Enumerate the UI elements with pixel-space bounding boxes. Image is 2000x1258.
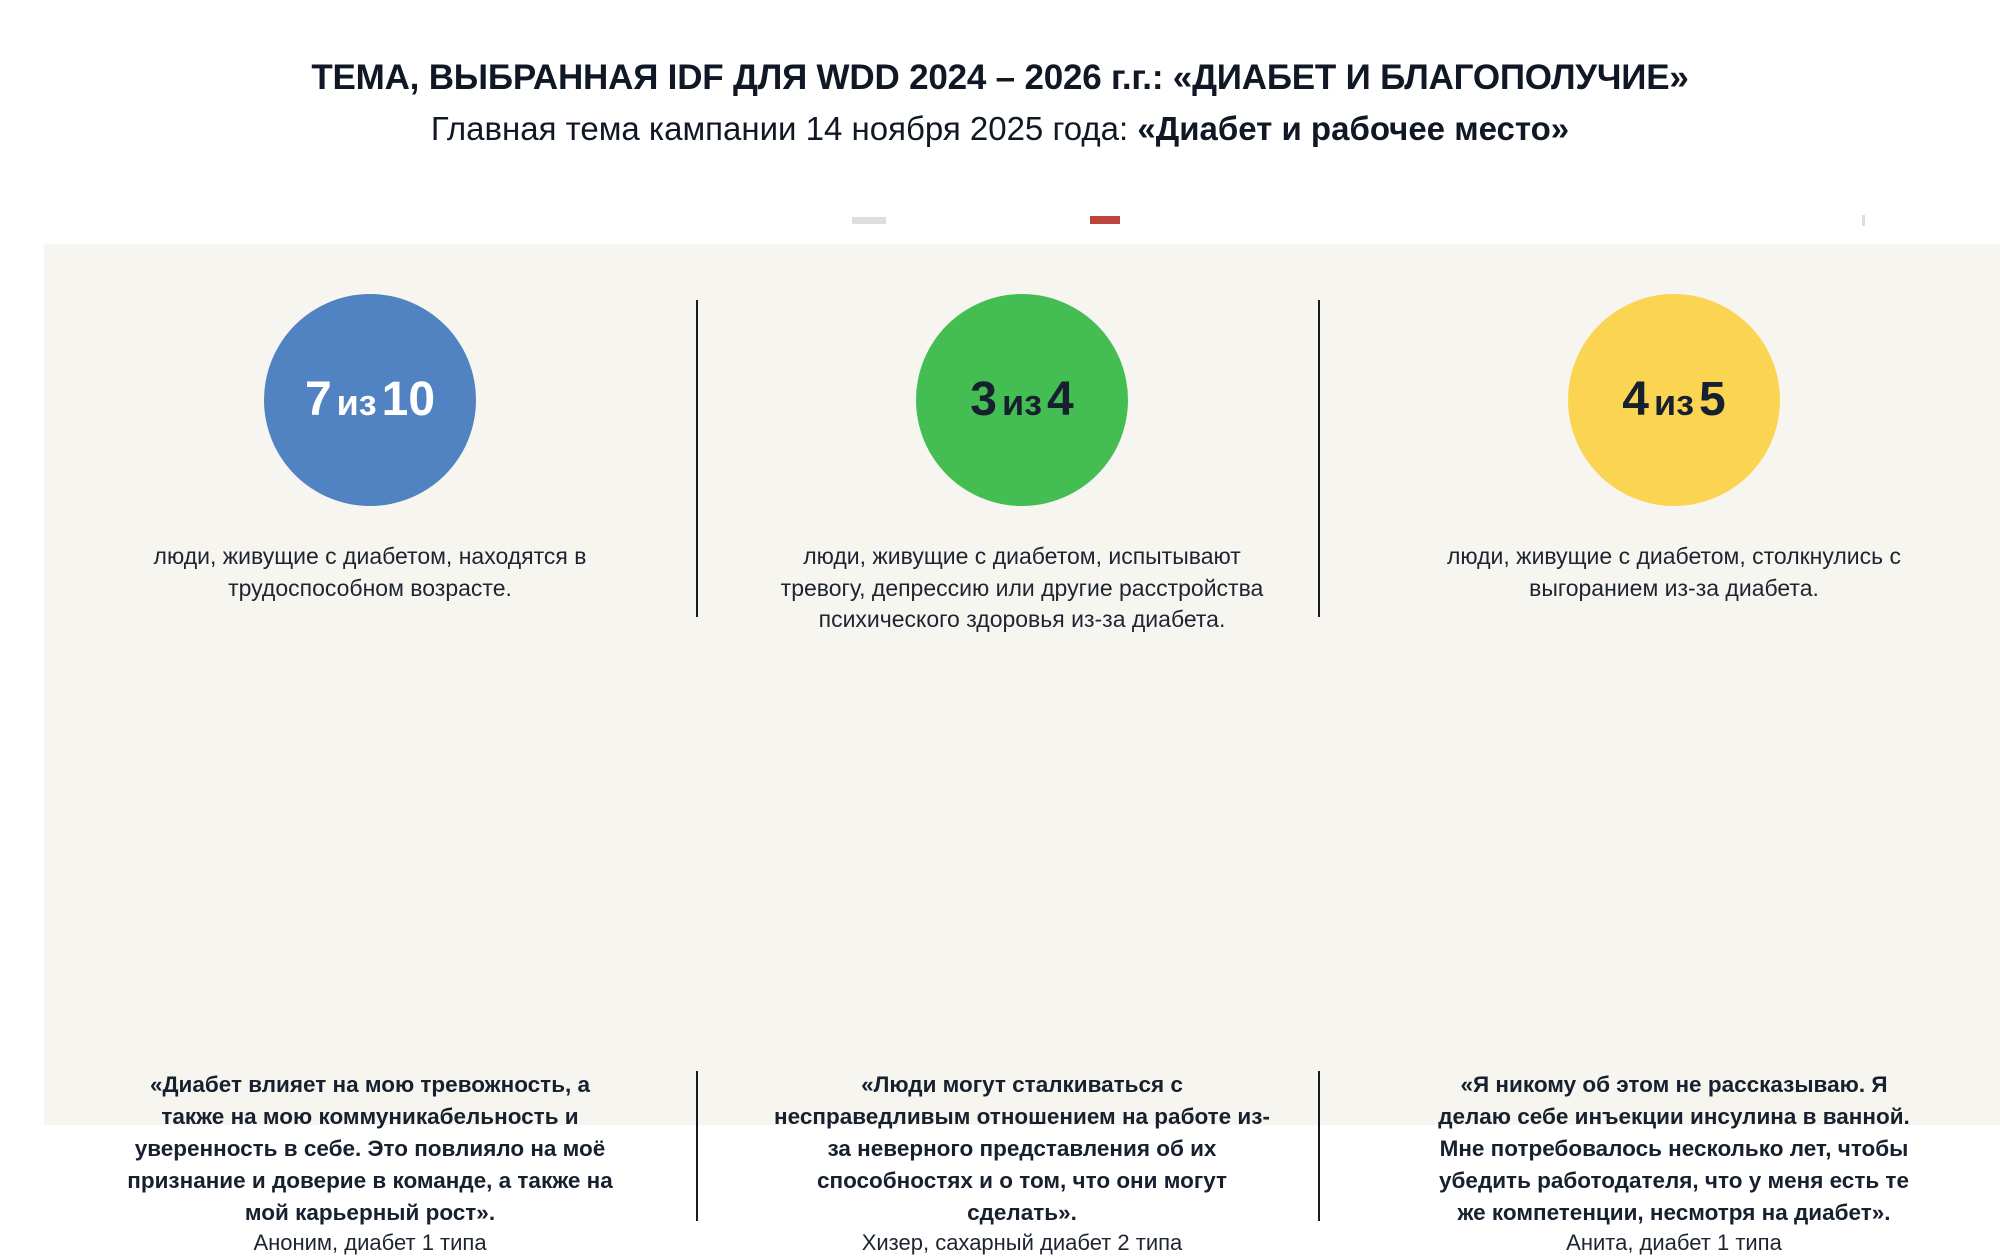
stat-connector-1: из bbox=[332, 382, 382, 423]
testimonial-attribution-3: Анита, диабет 1 типа bbox=[1348, 1229, 2000, 1258]
stat-caption-1: люди, живущие с диабетом, находятся в тр… bbox=[44, 541, 696, 604]
testimonial-quote-3: «Я никому об этом не рассказываю. Я дела… bbox=[1348, 1069, 2000, 1229]
stat-ratio-1: 7из10 bbox=[305, 376, 435, 424]
stat-circle-yellow: 4из5 bbox=[1568, 294, 1780, 506]
stat-column-2: 3из4 люди, живущие с диабетом, испытываю… bbox=[696, 244, 1348, 1125]
stat-numerator-1: 7 bbox=[305, 373, 332, 426]
statistics-columns: 7из10 люди, живущие с диабетом, находятс… bbox=[44, 244, 2000, 1125]
stat-connector-3: из bbox=[1649, 382, 1699, 423]
campaign-subtitle-prefix: Главная тема кампании 14 ноября 2025 год… bbox=[431, 110, 1137, 147]
campaign-subtitle: Главная тема кампании 14 ноября 2025 год… bbox=[0, 107, 2000, 152]
testimonial-attribution-1: Аноним, диабет 1 типа bbox=[44, 1229, 696, 1258]
clipped-fragment-7 bbox=[1862, 215, 1865, 226]
clipped-fragment-3 bbox=[372, 216, 392, 227]
stat-circle-green: 3из4 bbox=[916, 294, 1128, 506]
stat-numerator-2: 3 bbox=[970, 373, 997, 426]
stat-column-1: 7из10 люди, живущие с диабетом, находятс… bbox=[44, 244, 696, 1125]
stat-denominator-2: 4 bbox=[1047, 373, 1074, 426]
stat-ratio-2: 3из4 bbox=[970, 376, 1073, 424]
stat-denominator-1: 10 bbox=[382, 373, 435, 426]
clipped-content-strip bbox=[0, 196, 2000, 244]
testimonial-attribution-2: Хизер, сахарный диабет 2 типа bbox=[696, 1229, 1348, 1258]
campaign-subtitle-emphasis: «Диабет и рабочее место» bbox=[1137, 110, 1569, 147]
stat-caption-3: люди, живущие с диабетом, столкнулись с … bbox=[1348, 541, 2000, 604]
testimonial-quote-2: «Люди могут сталкиваться с несправедливы… bbox=[696, 1069, 1348, 1229]
stat-circle-wrap-3: 4из5 bbox=[1348, 294, 2000, 506]
stat-circle-wrap-2: 3из4 bbox=[696, 294, 1348, 506]
stat-caption-2: люди, живущие с диабетом, испытывают тре… bbox=[696, 541, 1348, 636]
clipped-fragment-4 bbox=[620, 216, 640, 227]
campaign-theme-heading: ТЕМА, ВЫБРАННАЯ IDF ДЛЯ WDD 2024 – 2026 … bbox=[0, 58, 2000, 98]
stat-circle-wrap-1: 7из10 bbox=[44, 294, 696, 506]
stat-numerator-3: 4 bbox=[1622, 373, 1649, 426]
stat-circle-blue: 7из10 bbox=[264, 294, 476, 506]
clipped-fragment-2 bbox=[125, 216, 159, 227]
testimonial-quote-1: «Диабет влияет на мою тревожность, а так… bbox=[44, 1069, 696, 1229]
clipped-fragment-5 bbox=[852, 217, 886, 224]
stat-denominator-3: 5 bbox=[1699, 373, 1726, 426]
infographic-panel: 7из10 люди, живущие с диабетом, находятс… bbox=[44, 244, 2000, 1125]
stat-column-3: 4из5 люди, живущие с диабетом, столкнули… bbox=[1348, 244, 2000, 1125]
slide-title-block: ТЕМА, ВЫБРАННАЯ IDF ДЛЯ WDD 2024 – 2026 … bbox=[0, 0, 2000, 196]
clipped-fragment-1 bbox=[58, 216, 106, 227]
stat-connector-2: из bbox=[997, 382, 1047, 423]
stat-ratio-3: 4из5 bbox=[1622, 376, 1725, 424]
clipped-fragment-6 bbox=[1090, 216, 1120, 224]
